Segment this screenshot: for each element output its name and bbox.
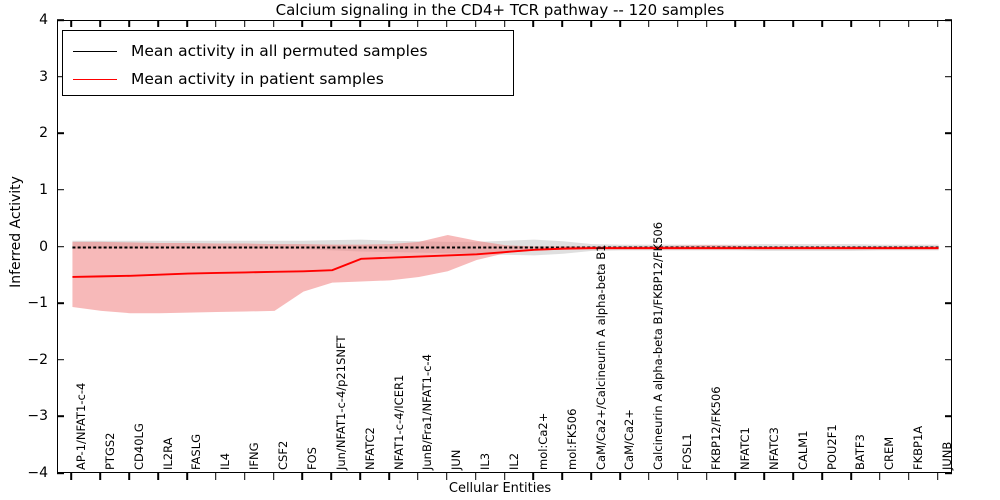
x-tick-label: Jun/NFAT1-c-4/p21SNFT bbox=[336, 336, 348, 470]
x-tick-mark bbox=[273, 473, 275, 480]
x-tick-label: CD40LG bbox=[134, 423, 146, 470]
x-tick-label: PTGS2 bbox=[105, 433, 117, 471]
x-tick-mark bbox=[302, 473, 304, 480]
x-tick-mark bbox=[590, 473, 592, 480]
x-tick-label: CaM/Ca2+ bbox=[624, 409, 636, 470]
legend-label-patient: Mean activity in patient samples bbox=[131, 70, 384, 88]
x-tick-mark bbox=[100, 473, 102, 480]
y-tick-label: 4 bbox=[39, 12, 48, 28]
x-tick-mark-top bbox=[244, 20, 246, 27]
x-tick-mark bbox=[215, 473, 217, 480]
x-tick-mark-top bbox=[446, 20, 448, 27]
x-tick-mark-top bbox=[71, 20, 73, 27]
x-tick-mark bbox=[186, 473, 188, 480]
x-tick-mark bbox=[359, 473, 361, 480]
y-axis-title: Inferred Activity bbox=[8, 2, 24, 462]
chart-legend: Mean activity in all permuted samples Me… bbox=[62, 30, 514, 96]
x-tick-mark-top bbox=[417, 20, 419, 27]
y-tick-mark-right bbox=[945, 19, 952, 21]
x-tick-mark bbox=[533, 473, 535, 480]
x-tick-label: CaM/Ca2+/Calcineurin A alpha-beta B1 bbox=[596, 245, 608, 470]
x-tick-mark-top bbox=[850, 20, 852, 27]
x-tick-mark bbox=[446, 473, 448, 480]
x-tick-mark bbox=[417, 473, 419, 480]
x-tick-mark bbox=[619, 473, 621, 480]
x-tick-mark bbox=[764, 473, 766, 480]
x-tick-label: CREM bbox=[884, 437, 896, 470]
x-tick-label: POU2F1 bbox=[827, 424, 839, 470]
x-tick-mark bbox=[850, 473, 852, 480]
x-tick-mark bbox=[792, 473, 794, 480]
x-tick-label: IL4 bbox=[220, 453, 232, 470]
x-tick-mark-top bbox=[186, 20, 188, 27]
x-tick-label: CALM1 bbox=[798, 430, 810, 470]
y-tick-mark-right bbox=[945, 246, 952, 248]
x-tick-label: IL3 bbox=[480, 453, 492, 470]
y-tick-mark-right bbox=[945, 76, 952, 78]
chart-title: Calcium signaling in the CD4+ TCR pathwa… bbox=[0, 1, 1000, 19]
x-tick-mark bbox=[648, 473, 650, 480]
x-tick-mark bbox=[561, 473, 563, 480]
x-tick-label: CSF2 bbox=[278, 441, 290, 470]
x-tick-label: IFNG bbox=[249, 442, 261, 470]
x-tick-mark-top bbox=[792, 20, 794, 27]
x-tick-label: FKBP1A bbox=[913, 426, 925, 470]
y-tick-label: −2 bbox=[27, 352, 48, 368]
y-tick-label: 0 bbox=[39, 239, 48, 255]
x-tick-mark-top bbox=[879, 20, 881, 27]
y-tick-mark bbox=[57, 472, 64, 474]
x-tick-mark-top bbox=[619, 20, 621, 27]
y-tick-label: −3 bbox=[27, 408, 48, 424]
y-tick-mark-right bbox=[945, 132, 952, 134]
x-tick-mark-top bbox=[533, 20, 535, 27]
legend-item-permuted: Mean activity in all permuted samples bbox=[73, 37, 503, 65]
x-tick-mark bbox=[706, 473, 708, 480]
y-tick-mark-right bbox=[945, 189, 952, 191]
x-tick-mark-top bbox=[677, 20, 679, 27]
y-tick-mark bbox=[57, 246, 64, 248]
x-tick-mark-top bbox=[388, 20, 390, 27]
x-tick-label: mol:FK506 bbox=[567, 409, 579, 470]
y-tick-label: −1 bbox=[27, 295, 48, 311]
x-tick-mark-top bbox=[908, 20, 910, 27]
y-tick-mark bbox=[57, 132, 64, 134]
x-tick-label: FASLG bbox=[191, 434, 203, 470]
x-tick-label: JUN bbox=[451, 450, 463, 470]
x-tick-mark bbox=[244, 473, 246, 480]
x-tick-mark-top bbox=[590, 20, 592, 27]
y-tick-mark-right bbox=[945, 416, 952, 418]
y-tick-mark bbox=[57, 189, 64, 191]
x-tick-mark bbox=[821, 473, 823, 480]
x-tick-label: JUNB bbox=[942, 442, 954, 470]
y-tick-label: 1 bbox=[39, 182, 48, 198]
x-tick-mark-top bbox=[648, 20, 650, 27]
x-tick-label: IL2RA bbox=[163, 437, 175, 470]
x-tick-label: BATF3 bbox=[855, 434, 867, 470]
y-tick-mark-right bbox=[945, 472, 952, 474]
x-tick-mark-top bbox=[504, 20, 506, 27]
legend-line-swatch-black bbox=[73, 51, 117, 52]
x-tick-mark bbox=[937, 473, 939, 480]
x-tick-mark bbox=[330, 473, 332, 480]
x-tick-mark-top bbox=[735, 20, 737, 27]
legend-line-swatch-red bbox=[73, 79, 117, 80]
x-tick-mark-top bbox=[215, 20, 217, 27]
x-tick-label: NFATC1 bbox=[740, 427, 752, 470]
x-tick-mark bbox=[157, 473, 159, 480]
x-tick-label: NFATC2 bbox=[365, 427, 377, 470]
y-tick-label: 3 bbox=[39, 69, 48, 85]
y-tick-mark bbox=[57, 19, 64, 21]
y-tick-mark bbox=[57, 416, 64, 418]
x-tick-mark bbox=[71, 473, 73, 480]
x-tick-label: NFAT1-c-4/ICER1 bbox=[394, 375, 406, 470]
x-tick-mark-top bbox=[302, 20, 304, 27]
x-tick-label: NFATC3 bbox=[769, 427, 781, 470]
y-tick-mark-right bbox=[945, 302, 952, 304]
y-tick-mark bbox=[57, 302, 64, 304]
x-tick-label: mol:Ca2+ bbox=[538, 413, 550, 470]
x-tick-mark bbox=[735, 473, 737, 480]
x-tick-mark bbox=[677, 473, 679, 480]
y-tick-mark-right bbox=[945, 359, 952, 361]
x-tick-label: FKBP12/FK506 bbox=[711, 386, 723, 470]
x-tick-mark-top bbox=[157, 20, 159, 27]
x-tick-label: FOS bbox=[307, 447, 319, 470]
x-tick-label: IL2 bbox=[509, 453, 521, 470]
x-tick-mark bbox=[475, 473, 477, 480]
x-tick-mark-top bbox=[100, 20, 102, 27]
x-tick-mark-top bbox=[706, 20, 708, 27]
x-tick-label: AP-1/NFAT1-c-4 bbox=[76, 383, 88, 470]
legend-item-patient: Mean activity in patient samples bbox=[73, 65, 503, 93]
legend-label-permuted: Mean activity in all permuted samples bbox=[131, 42, 428, 60]
x-tick-mark-top bbox=[128, 20, 130, 27]
x-tick-mark-top bbox=[561, 20, 563, 27]
x-tick-label: FOSL1 bbox=[682, 433, 694, 470]
x-tick-mark-top bbox=[273, 20, 275, 27]
y-tick-label: 2 bbox=[39, 125, 48, 141]
x-tick-mark-top bbox=[330, 20, 332, 27]
x-tick-label: Calcineurin A alpha-beta B1/FKBP12/FK506 bbox=[653, 222, 665, 470]
x-axis-title: Cellular Entities bbox=[0, 481, 1000, 496]
x-tick-mark-top bbox=[937, 20, 939, 27]
x-tick-mark bbox=[908, 473, 910, 480]
x-tick-mark-top bbox=[764, 20, 766, 27]
x-tick-mark bbox=[128, 473, 130, 480]
x-tick-mark bbox=[879, 473, 881, 480]
x-tick-label: JunB/Fra1/NFAT1-c-4 bbox=[422, 354, 434, 470]
x-tick-mark bbox=[504, 473, 506, 480]
x-tick-mark bbox=[388, 473, 390, 480]
y-tick-mark bbox=[57, 359, 64, 361]
y-tick-label: −4 bbox=[27, 465, 48, 481]
x-tick-mark-top bbox=[359, 20, 361, 27]
x-tick-mark-top bbox=[475, 20, 477, 27]
chart-figure: Calcium signaling in the CD4+ TCR pathwa… bbox=[0, 0, 1000, 500]
x-tick-mark-top bbox=[821, 20, 823, 27]
